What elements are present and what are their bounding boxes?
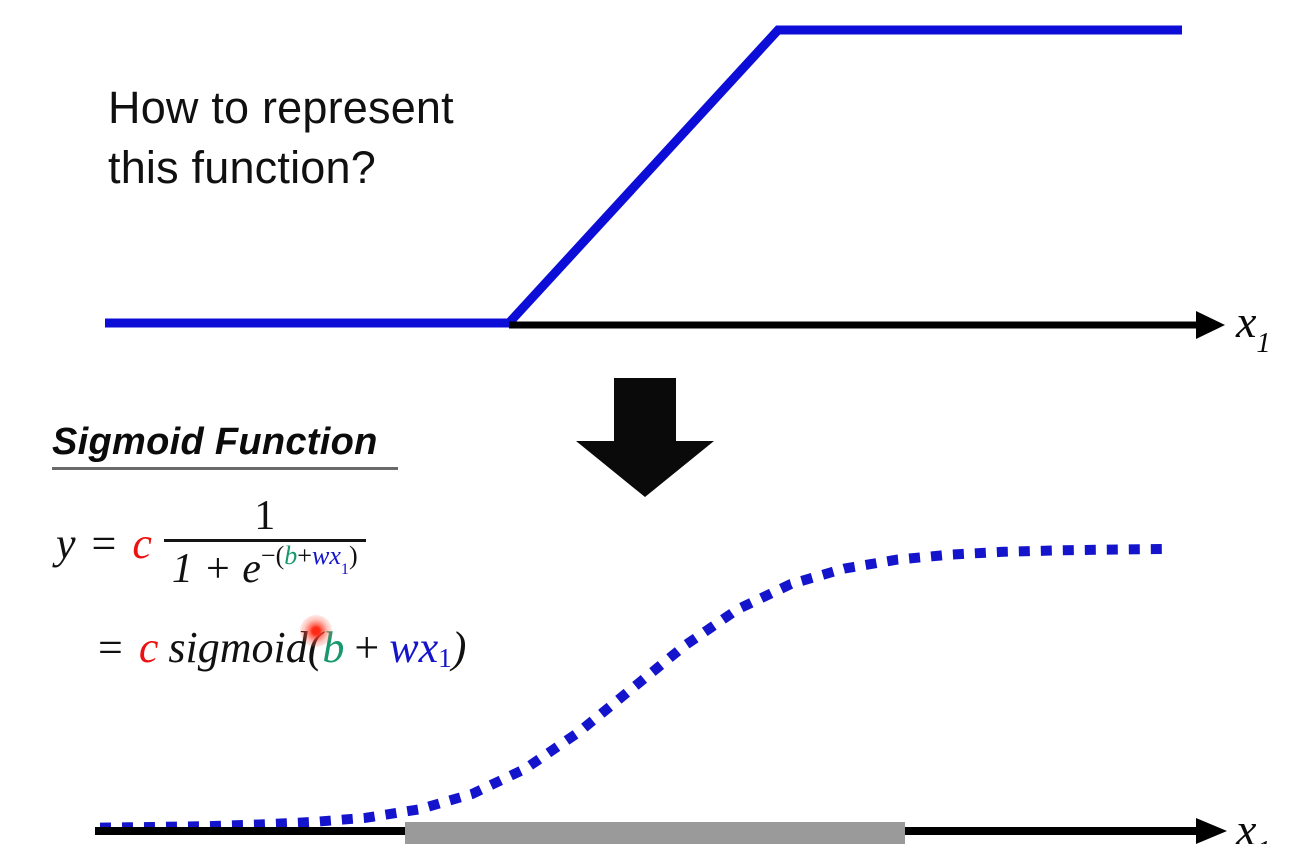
formula2-plus: + (354, 622, 379, 673)
exp-minus: − (261, 541, 276, 570)
formula-fraction: 1 1 + e−(b+wx1) (164, 495, 366, 591)
formula2-close-paren: ) (452, 622, 467, 673)
formula-coefficient-c: c (132, 518, 152, 569)
exp-open-paren: ( (276, 541, 285, 570)
denominator-prefix: 1 + e (172, 546, 261, 592)
formula2-function-name: sigmoid (168, 622, 307, 673)
heading-underline (52, 467, 398, 470)
top-x-axis-arrowhead (1196, 311, 1225, 339)
bottom-axis-label-subscript: 1 (1256, 836, 1270, 844)
question-text: How to represent this function? (108, 78, 528, 198)
bottom-x-axis-label: x1 (1236, 803, 1271, 844)
exponent-group: −(b+wx1) (261, 541, 358, 570)
bottom-x-axis-arrowhead (1196, 818, 1227, 844)
exp-variable-subscript: 1 (341, 561, 349, 578)
slide-canvas: How to represent this function? Sigmoid … (0, 0, 1304, 844)
formula2-bias-b: b (322, 622, 344, 673)
formula2-equals: = (98, 622, 123, 673)
exp-close-paren: ) (349, 541, 358, 570)
fraction-denominator: 1 + e−(b+wx1) (164, 542, 366, 591)
exp-weight-w: w (312, 541, 329, 570)
top-axis-label-subscript: 1 (1256, 328, 1270, 359)
formula2-variable-x: x (419, 622, 439, 673)
formula2-weight-w: w (389, 622, 418, 673)
sigmoid-function-heading: Sigmoid Function (52, 421, 378, 464)
bottom-axis-label-text: x (1236, 804, 1256, 844)
fraction-numerator: 1 (244, 495, 285, 539)
exp-plus: + (297, 541, 312, 570)
formula2-variable-subscript: 1 (438, 643, 452, 674)
formula-equals: = (92, 518, 117, 569)
top-axis-label-text: x (1236, 296, 1256, 347)
down-arrow-icon (576, 378, 714, 497)
formula-line-2: = c sigmoid(b+wx1) (98, 622, 466, 673)
top-x-axis-label: x1 (1236, 295, 1271, 355)
bottom-overlay-bar[interactable] (405, 822, 905, 844)
formula-lhs-y: y (56, 518, 76, 569)
formula2-open-paren: ( (308, 622, 323, 673)
exp-variable-x: x (329, 541, 341, 570)
formula-line-1: y = c 1 1 + e−(b+wx1) (56, 495, 366, 591)
formula2-coefficient-c: c (139, 622, 159, 673)
exp-bias-b: b (284, 541, 297, 570)
